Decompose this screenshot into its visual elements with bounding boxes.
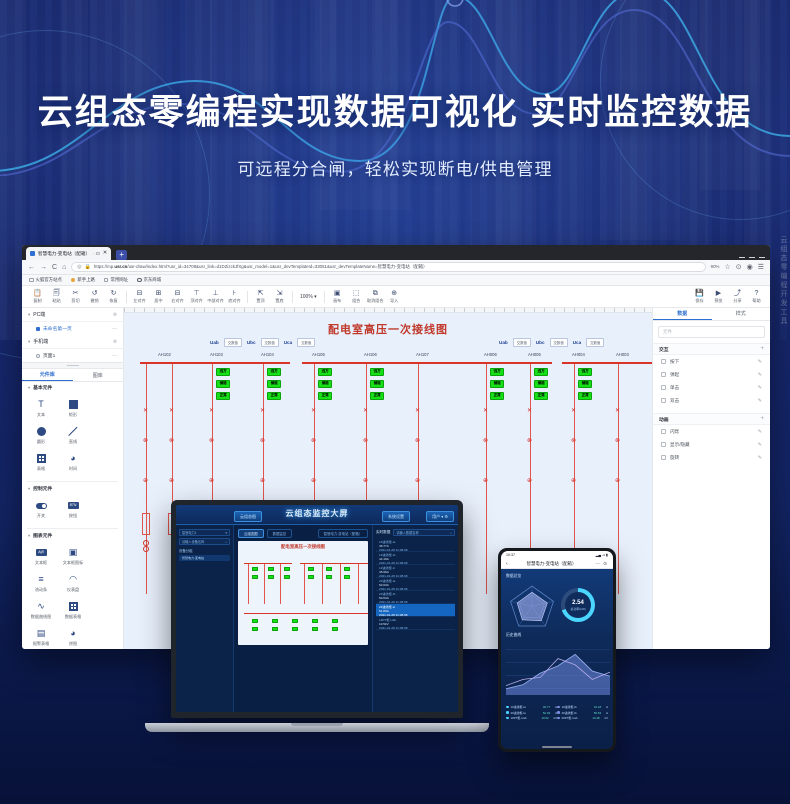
toolbar-canvas-button[interactable]: ▣画布	[328, 290, 347, 304]
switch-icon	[36, 500, 47, 511]
checkbox[interactable]	[661, 372, 666, 377]
toolbar-label: 复制	[33, 298, 41, 304]
toolbar-label: 保存	[695, 298, 703, 304]
tab-style[interactable]: 样式	[712, 308, 771, 320]
component-label: 仪表盘	[67, 587, 79, 593]
status-badge: 正常	[267, 392, 281, 400]
checkbox[interactable]	[661, 429, 666, 434]
component-label: 流动条	[35, 587, 47, 593]
save-button[interactable]: 💾保存	[690, 290, 709, 304]
cabinet-id-row: AH102 AH103 AH104 AH105 AH106 AH107 AH00…	[124, 352, 652, 360]
page-group-pc[interactable]: ▾ PC端 ⊗	[22, 308, 123, 322]
help-button[interactable]: ?帮助	[747, 290, 766, 304]
edit-icon[interactable]: ✎	[758, 385, 762, 391]
textbox-icon: A|B	[36, 547, 47, 558]
component-label: 数据曲线图	[31, 614, 51, 620]
group-icon: ⬚	[353, 290, 360, 297]
section-animation: 动画 +	[653, 413, 770, 425]
laptop-device: 云组态图 云组态监控大屏 系统设置 用户 ▾ ⚙ 智慧电力1 ▾ 请输入设备名称…	[171, 500, 463, 732]
status-badge: 远方	[267, 368, 281, 376]
page-item-action-icon[interactable]: —	[112, 326, 117, 332]
cabinet-id: AH006	[484, 352, 497, 357]
toolbar-redo-button[interactable]: ↻恢复	[104, 290, 123, 304]
phase-value-pill[interactable]: 交数值	[261, 338, 279, 347]
toolbar-align-center-button[interactable]: ⊞居中	[149, 290, 168, 304]
status-badge: 远方	[490, 368, 504, 376]
component-flow-bar[interactable]: ≡流动条	[25, 570, 57, 597]
line-icon	[68, 426, 79, 437]
toolbar-undo-button[interactable]: ↺撤销	[85, 290, 104, 304]
component-textbox[interactable]: A|B文本框	[25, 543, 57, 570]
dashboard-center: 云组态图 数据监控 智慧电力-变电站（配箱） 配电室高压一次接线图	[234, 525, 372, 712]
dashboard-chip-settings[interactable]: 系统设置	[382, 511, 410, 522]
reload-icon[interactable]: C	[52, 264, 57, 271]
chevron-down-icon: ▾	[28, 312, 30, 318]
interaction-item[interactable]: 弹起✎	[653, 368, 770, 381]
toolbar-ungroup-button[interactable]: ⧉取消组合	[366, 290, 385, 304]
toolbar-divider	[292, 291, 293, 303]
legend-value: 50.63	[594, 711, 601, 715]
legend-item: 2#进线柜-Ib50.63A	[557, 711, 608, 715]
status-badge: 远方	[318, 368, 332, 376]
editor-right-panel: 数据 样式 元件 交互 + 按下✎ 弹起✎ 单击✎ 双击✎ 动画 + 闪烁✎ 显…	[652, 308, 770, 649]
item-label: 单击	[670, 385, 679, 391]
page-group-action-icon[interactable]: ⊗	[113, 339, 117, 345]
component-label: 文本	[37, 412, 45, 418]
tab-image-library[interactable]: 图库	[73, 369, 124, 381]
flow-icon: ≡	[36, 574, 47, 585]
pie-icon: ◕	[68, 628, 79, 639]
toolbar-label: 画布	[333, 298, 341, 304]
phase-value-pill[interactable]: 交数值	[297, 338, 315, 347]
component-label: 矩形	[69, 412, 77, 418]
laptop-lid: 云组态图 云组态监控大屏 系统设置 用户 ▾ ⚙ 智慧电力1 ▾ 请输入设备名称…	[171, 500, 463, 718]
status-badge: 储能	[578, 380, 592, 388]
page-group-label: 手机端	[33, 338, 48, 345]
component-label: 时间	[69, 466, 77, 472]
legend-unit: A	[606, 711, 608, 715]
home-icon[interactable]: ⌂	[62, 264, 66, 271]
browser-navbar: ← → C ⌂ ◎ 🔒 https://mp.usr.cn/usr-draw/i…	[22, 260, 770, 275]
component-text[interactable]: T文本	[25, 395, 57, 422]
legend-value: 44.18	[594, 705, 601, 709]
toolbar-label: 置顶	[256, 298, 264, 304]
list-item-selected[interactable]: 2#进线柜-Ic51.80A2021-01-28 11:08:08	[376, 604, 455, 617]
status-badge: 正常	[318, 392, 332, 400]
toolbar-label: 组合	[352, 298, 360, 304]
new-tab-button[interactable]: +	[116, 250, 127, 260]
search-placeholder: 请输入数据名称	[396, 530, 418, 535]
section-interaction: 交互 +	[653, 343, 770, 355]
edit-icon[interactable]: ✎	[758, 372, 762, 378]
undo-icon: ↺	[92, 290, 98, 297]
toolbar-cut-button[interactable]: ✂剪切	[66, 290, 85, 304]
legend-label: 2#PT柜-Uab	[562, 716, 578, 720]
gauge-icon: ◠	[68, 574, 79, 585]
legend-item: 1#进线柜-Ia46.77A	[506, 705, 557, 709]
animation-item[interactable]: 显示/隐藏✎	[653, 438, 770, 451]
legend-label: 1#进线柜-Ib	[562, 705, 577, 709]
phone-nav-bar: ‹ 智慧电力-变电站（配箱） ⋯ ⊙	[501, 559, 613, 569]
phone-page-title: 智慧电力-变电站（配箱）	[512, 561, 592, 567]
component-button[interactable]: BTN按钮	[57, 496, 89, 523]
checkbox[interactable]	[661, 359, 666, 364]
realtime-title: 实时数据	[376, 530, 390, 535]
legend-item: 2#进线柜-Ia52.03A	[506, 711, 557, 715]
component-pie[interactable]: ◕饼图	[57, 624, 89, 649]
forward-icon[interactable]: →	[40, 264, 47, 271]
toolbar-bring-front-button[interactable]: ⇱置顶	[251, 290, 270, 304]
chevron-down-icon: ▾	[28, 339, 30, 345]
list-item[interactable]: 1#进线柜-Ib44.18A2021-01-28 11:08:08	[376, 552, 455, 565]
toolbar-send-back-button[interactable]: ⇲置底	[270, 290, 289, 304]
status-badge: 远方	[534, 368, 548, 376]
hero-text: 云组态零编程实现数据可视化 实时监控数据 可远程分合闸，轻松实现断电/供电管理	[0, 92, 790, 180]
divider	[27, 528, 118, 529]
phone-nav-right-icons[interactable]: ⋯ ⊙	[595, 561, 608, 567]
phase-value-pill[interactable]: 交数值	[550, 338, 568, 347]
device-select-value: 智慧电力1	[182, 530, 197, 535]
device-list-item[interactable]: 智慧电力-变电站	[179, 555, 230, 561]
status-badge: 远方	[370, 368, 384, 376]
component-gauge[interactable]: ◠仪表盘	[57, 570, 89, 597]
status-badge: 储能	[318, 380, 332, 388]
window-controls[interactable]	[739, 257, 770, 260]
phone-section-overview-title: 数据总览	[506, 574, 608, 579]
component-curve[interactable]: ∿数据曲线图	[25, 597, 57, 624]
component-line[interactable]: 直线	[57, 422, 89, 449]
page-icon	[36, 354, 40, 358]
interaction-item[interactable]: 双击✎	[653, 394, 770, 407]
phone-home-indicator	[542, 746, 572, 748]
device-group-label: 设备分组	[179, 548, 230, 553]
search-placeholder: 请输入设备名称	[182, 539, 204, 544]
laptop-screen: 云组态图 云组态监控大屏 系统设置 用户 ▾ ⚙ 智慧电力1 ▾ 请输入设备名称…	[176, 505, 458, 712]
toolbar-label: 取消组合	[367, 298, 383, 304]
send-back-icon: ⇲	[277, 290, 283, 297]
dashboard-sidebar: 智慧电力1 ▾ 请输入设备名称 ⌕ 设备分组 智慧电力-变电站	[176, 525, 234, 712]
circle-icon	[36, 426, 47, 437]
chevron-down-icon: ▾	[28, 486, 30, 491]
cabinet-id: AH106	[364, 352, 377, 357]
status-badge: 正常	[534, 392, 548, 400]
list-item[interactable]: 2#进线柜-Ib50.63A2021-01-28 11:08:08	[376, 591, 455, 604]
status-badge: 储能	[267, 380, 281, 388]
search-icon[interactable]: ⌕	[225, 540, 227, 544]
clock-icon: ◕	[68, 453, 79, 464]
checkbox[interactable]	[661, 455, 666, 460]
preview-button[interactable]: ▶预览	[709, 290, 728, 304]
url-text: https://mp.usr.cn/usr-draw/index.html?us…	[94, 264, 427, 270]
toolbar-label: 分享	[733, 298, 741, 304]
bookmark-item[interactable]: 京东商城	[137, 277, 161, 283]
section-title: 动画	[659, 416, 669, 423]
component-label: 报警表格	[33, 641, 49, 647]
toolbar-import-button[interactable]: ⊕导入	[385, 290, 404, 304]
edit-icon[interactable]: ✎	[758, 455, 762, 461]
component-alarm-table[interactable]: ▤报警表格	[25, 624, 57, 649]
realtime-search-input[interactable]: 请输入数据名称 ⌕	[393, 529, 455, 536]
legend-value: 46.77	[543, 705, 550, 709]
lock-icon: 🔒	[85, 264, 91, 270]
menu-icon[interactable]: ☰	[758, 264, 764, 271]
chevron-down-icon: ▾	[28, 533, 30, 538]
component-label: 表格	[37, 466, 45, 472]
toolbar-align-middle-button[interactable]: ⊥中部对齐	[206, 290, 225, 304]
save-icon: 💾	[695, 290, 704, 297]
tab-component-library[interactable]: 元件库	[22, 369, 73, 381]
tab-mute-icon: · ⊡	[93, 251, 100, 257]
status-badge: 储能	[216, 380, 230, 388]
square-icon	[68, 399, 79, 410]
component-label: 直线	[69, 439, 77, 445]
toolbar-label: 剪切	[71, 298, 79, 304]
phase-label-uca: Uca	[573, 340, 581, 345]
phase-value-pill[interactable]: 交数值	[586, 338, 604, 347]
list-item[interactable]: 1#进线柜-Ia46.77A2021-01-28 11:08:08	[376, 539, 455, 552]
legend-item: 1#PT柜-Uab10.52kV	[506, 716, 557, 720]
search-icon[interactable]: ⌕	[450, 531, 452, 535]
laptop-base	[145, 723, 489, 732]
interaction-item[interactable]: 按下✎	[653, 355, 770, 368]
browser-tab[interactable]: 智慧电力-变电站（配箱） · ⊡ ✕	[26, 247, 111, 260]
status-badge: 正常	[578, 392, 592, 400]
tab-data-monitor[interactable]: 数据监控	[267, 529, 293, 538]
list-item[interactable]: 2#进线柜-Ia52.03A2021-01-28 11:08:08	[376, 578, 455, 591]
toolbar-divider	[126, 291, 127, 303]
data-table-icon	[68, 601, 79, 612]
section-title: 图表元件	[33, 532, 52, 539]
animation-item[interactable]: 闪烁✎	[653, 425, 770, 438]
align-right-icon: ⊟	[175, 290, 181, 297]
bookmark-label: 火狐官方站点	[36, 277, 62, 283]
share-button[interactable]: ⤴分享	[728, 290, 747, 304]
diagram-card-title: 配电室高压一次接线图	[241, 544, 365, 550]
add-icon[interactable]: +	[760, 346, 764, 352]
edit-icon[interactable]: ✎	[758, 398, 762, 404]
component-circle[interactable]: 圆形	[25, 422, 57, 449]
page-group-action-icon[interactable]: ⊗	[113, 312, 117, 318]
legend-item: 2#PT柜-Uab10.48kV	[557, 716, 608, 720]
phase-label-uab: Uab	[499, 340, 508, 345]
dashboard-right: 实时数据 请输入数据名称 ⌕ 1#进线柜-Ia46.77A2021-01-28 …	[372, 525, 458, 712]
canvas-zoom-select[interactable]: 100% ▾	[296, 294, 321, 300]
cabinet-id: AH004	[572, 352, 585, 357]
properties-search-input[interactable]: 元件	[658, 326, 765, 338]
editor-toolbar-group-edit: 📋复制 🗐粘贴 ✂剪切 ↺撤销 ↻恢复 ⊟左对齐 ⊞居中 ⊟右对齐 ⊤顶对齐 ⊥…	[22, 290, 404, 304]
component-label: 饼图	[69, 641, 77, 647]
play-icon: ▶	[716, 290, 721, 297]
item-label: 按下	[670, 359, 679, 365]
component-label: 文本框图标	[63, 560, 83, 566]
dashboard-chip-user[interactable]: 用户 ▾ ⚙	[426, 511, 454, 522]
page-item-action-icon[interactable]: —	[112, 353, 117, 359]
toolbar-label: 居中	[154, 298, 162, 304]
device-select[interactable]: 智慧电力1 ▾	[179, 529, 230, 536]
component-label: 圆形	[37, 439, 45, 445]
busbar-segment	[140, 362, 290, 364]
navbar-right-icons: 90% ☆ ⊙ ◉ ☰	[711, 264, 764, 271]
page-item-label: 页面1	[43, 352, 55, 359]
tab-cloud-diagram[interactable]: 云组态图	[238, 529, 264, 538]
scissors-icon: ✂	[73, 290, 79, 297]
legend-unit: kV	[605, 716, 608, 720]
component-switch[interactable]: 开关	[25, 496, 57, 523]
item-label: 双击	[670, 398, 679, 404]
browser-tabstrip: 智慧电力-变电站（配箱） · ⊡ ✕ +	[22, 245, 770, 260]
animation-item[interactable]: 旋转✎	[653, 451, 770, 464]
item-label: 闪烁	[670, 429, 679, 435]
status-indicators: ▂▄ ⊿ ▮	[596, 553, 608, 557]
align-bottom-icon: ⊦	[233, 290, 237, 297]
phone-screen: 10:37 ▂▄ ⊿ ▮ ‹ 智慧电力-变电站（配箱） ⋯ ⊙ 数据总览	[501, 551, 613, 749]
component-label: 数据表格	[65, 614, 81, 620]
edit-icon[interactable]: ✎	[758, 442, 762, 448]
share-icon: ⤴	[734, 290, 741, 297]
account-icon[interactable]: ◉	[747, 264, 753, 271]
history-curve-chart	[506, 641, 610, 697]
status-badge: 储能	[370, 380, 384, 388]
phase-value-pill[interactable]: 交数值	[513, 338, 531, 347]
cabinet-id: AH104	[261, 352, 274, 357]
component-table[interactable]: 表格	[25, 449, 57, 476]
divider	[27, 481, 118, 482]
cabinet-id: AH107	[416, 352, 429, 357]
button-icon: BTN	[68, 500, 79, 511]
list-item[interactable]: 1#PT柜-Uab10.5kV2021-01-28 11:08:08	[376, 617, 455, 630]
cabinet-id: AH103	[210, 352, 223, 357]
edit-icon[interactable]: ✎	[758, 429, 762, 435]
section-control-components[interactable]: ▾ 控制元件	[22, 483, 123, 494]
page-group-label: PC端	[33, 311, 45, 318]
panel-resize-handle[interactable]	[22, 362, 123, 369]
add-icon[interactable]: +	[760, 416, 764, 422]
component-data-table[interactable]: 数据表格	[57, 597, 89, 624]
shield-icon: ◎	[77, 264, 81, 270]
dashboard-header: 云组态图 云组态监控大屏 系统设置 用户 ▾ ⚙	[176, 505, 458, 525]
toolbar-label: 导入	[390, 298, 398, 304]
page-item-label: 未命名第一页	[43, 325, 72, 332]
page-item-pc-1[interactable]: 未命名第一页 —	[22, 322, 123, 335]
radar-chart	[506, 582, 558, 628]
alarm-table-icon: ▤	[36, 628, 47, 639]
bookmark-item[interactable]: 火狐官方站点	[29, 277, 62, 283]
toolbar-align-top-button[interactable]: ⊤顶对齐	[187, 290, 206, 304]
align-center-icon: ⊞	[156, 290, 162, 297]
tab-data[interactable]: 数据	[653, 308, 712, 320]
bookmark-item[interactable]: 常用网址	[104, 277, 128, 283]
basic-component-grid: T文本 矩形 圆形 直线 表格 ◕时间	[22, 393, 123, 480]
gauge-unit: 总功率(kW)	[570, 607, 585, 611]
phone-status-bar: 10:37 ▂▄ ⊿ ▮	[501, 551, 613, 559]
interaction-item[interactable]: 单击✎	[653, 381, 770, 394]
tab-favicon	[30, 251, 35, 256]
chart-component-grid: A|B文本框 ▣文本框图标 ≡流动条 ◠仪表盘 ∿数据曲线图 数据表格 ▤报警表…	[22, 541, 123, 649]
toolbar-paste-button[interactable]: 🗐粘贴	[47, 290, 66, 304]
pocket-icon[interactable]: ⊙	[736, 264, 742, 271]
curve-icon: ∿	[36, 601, 47, 612]
toolbar-group-button[interactable]: ⬚组合	[347, 290, 366, 304]
status-badge: 正常	[216, 392, 230, 400]
help-icon: ?	[755, 290, 759, 297]
component-label: 文本框	[35, 560, 47, 566]
cabinet-id: AH003	[616, 352, 629, 357]
busbar-segment	[302, 362, 552, 364]
tab-close-icon[interactable]: ✕	[103, 251, 108, 256]
phone-device: 10:37 ▂▄ ⊿ ▮ ‹ 智慧电力-变电站（配箱） ⋯ ⊙ 数据总览	[498, 548, 616, 752]
address-bar[interactable]: ◎ 🔒 https://mp.usr.cn/usr-draw/index.htm…	[71, 262, 705, 272]
zoom-level[interactable]: 90%	[711, 265, 720, 269]
toolbar-label: 右对齐	[171, 298, 183, 304]
component-textbox-image[interactable]: ▣文本框图标	[57, 543, 89, 570]
canvas-icon: ▣	[334, 290, 341, 297]
phase-label-uab: Uab	[210, 340, 219, 345]
paste-icon: 🗐	[53, 290, 60, 297]
legend-item: 1#进线柜-Ib44.18A	[557, 705, 608, 709]
diagram-card[interactable]: 配电室高压一次接线图	[238, 541, 368, 645]
page-group-mobile[interactable]: ▾ 手机端 ⊗	[22, 335, 123, 349]
back-icon[interactable]: ←	[28, 264, 35, 271]
chevron-down-icon: ▾	[28, 385, 30, 390]
bookmark-label: 新手上路	[77, 277, 95, 283]
diagram-title: 配电室高压一次接线图	[124, 321, 652, 337]
copy-icon: 📋	[33, 290, 42, 297]
toolbar-label: 恢复	[109, 298, 117, 304]
toolbar-align-left-button[interactable]: ⊟左对齐	[130, 290, 149, 304]
device-search-input[interactable]: 请输入设备名称 ⌕	[179, 538, 230, 545]
component-label: 开关	[37, 513, 45, 519]
section-title: 交互	[659, 346, 669, 353]
ungroup-icon: ⧉	[373, 290, 378, 297]
legend-label: 1#PT柜-Uab	[511, 716, 527, 720]
section-basic-components[interactable]: ▾ 基本元件	[22, 382, 123, 393]
phase-label-uca: Uca	[284, 340, 292, 345]
bookmark-label: 常用网址	[110, 277, 128, 283]
toolbar-label: 撤销	[90, 298, 98, 304]
list-item[interactable]: 1#进线柜-Ic45.96A2021-01-28 11:08:08	[376, 565, 455, 578]
page-item-mobile-1[interactable]: 页面1 —	[22, 349, 123, 362]
text-icon: T	[36, 399, 47, 410]
toolbar-copy-button[interactable]: 📋复制	[28, 290, 47, 304]
bookmark-item[interactable]: 新手上路	[71, 277, 95, 283]
search-placeholder: 元件	[663, 329, 672, 335]
editor-toolbar-right: 💾保存 ▶预览 ⤴分享 ?帮助	[690, 286, 766, 308]
component-label: 按钮	[69, 513, 77, 519]
image-text-icon: ▣	[68, 547, 79, 558]
page-icon	[36, 327, 40, 331]
toolbar-divider	[247, 291, 248, 303]
cabinet-id: AH005	[528, 352, 541, 357]
checkbox[interactable]	[661, 398, 666, 403]
edit-icon[interactable]: ✎	[758, 359, 762, 365]
back-icon[interactable]: ‹	[506, 561, 508, 567]
legend-value: 52.03	[543, 711, 550, 715]
busbar-segment	[562, 362, 652, 364]
phase-value-pill[interactable]: 交数值	[224, 338, 242, 347]
section-chart-components[interactable]: ▾ 图表元件	[22, 530, 123, 541]
status-badge: 远方	[216, 368, 230, 376]
phone-chart-legend: 1#进线柜-Ia46.77A 1#进线柜-Ib44.18A 2#进线柜-Ia52…	[506, 705, 608, 720]
component-clock[interactable]: ◕时间	[57, 449, 89, 476]
toolbar-align-bottom-button[interactable]: ⊦底对齐	[225, 290, 244, 304]
checkbox[interactable]	[661, 385, 666, 390]
bookmark-star-icon[interactable]: ☆	[724, 264, 730, 271]
checkbox[interactable]	[661, 442, 666, 447]
chevron-down-icon: ▾	[225, 531, 227, 535]
toolbar-align-right-button[interactable]: ⊟右对齐	[168, 290, 187, 304]
component-rect[interactable]: 矩形	[57, 395, 89, 422]
phone-section-curve-title: 历史曲线	[506, 633, 608, 638]
